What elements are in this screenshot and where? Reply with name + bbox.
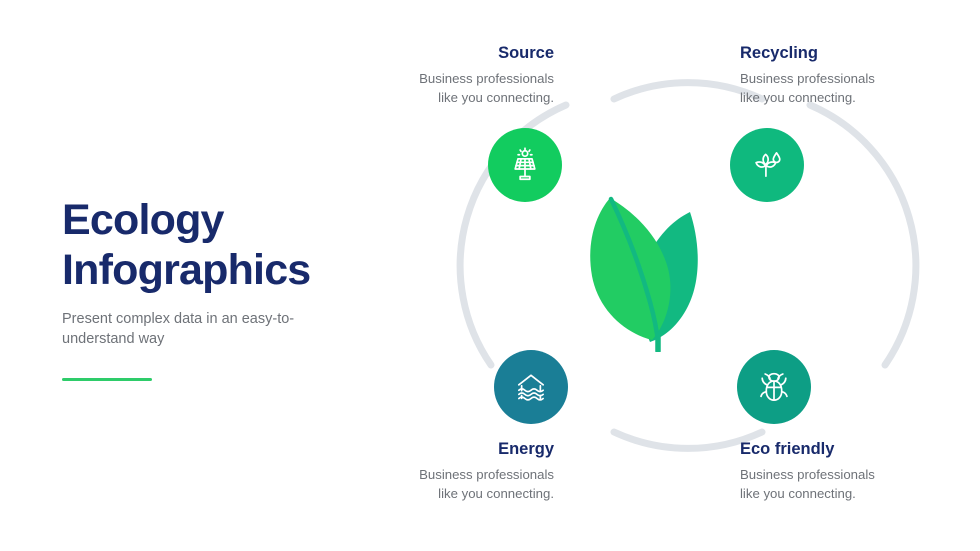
- house-water-icon: [513, 369, 549, 405]
- label-source-description: Business professionals like you connecti…: [354, 70, 554, 107]
- label-source-heading: Source: [354, 44, 554, 64]
- label-eco-friendly: Eco friendly Business professionals like…: [740, 440, 940, 503]
- sprout-water-drop-icon: [749, 147, 785, 183]
- node-source[interactable]: [488, 128, 562, 202]
- page-subtitle: Present complex data in an easy-to-under…: [62, 309, 308, 350]
- beetle-icon: [756, 369, 792, 405]
- label-recycling: Recycling Business professionals like yo…: [740, 44, 940, 107]
- node-energy[interactable]: [494, 350, 568, 424]
- ecology-diagram: Source Business professionals like you c…: [396, 0, 980, 551]
- label-energy: Energy Business professionals like you c…: [354, 440, 554, 503]
- label-eco-friendly-heading: Eco friendly: [740, 440, 940, 460]
- ring-arc-right: [810, 105, 916, 365]
- leaf-icon: [582, 190, 712, 352]
- label-recycling-heading: Recycling: [740, 44, 940, 64]
- label-energy-description: Business professionals like you connecti…: [354, 466, 554, 503]
- label-recycling-description: Business professionals like you connecti…: [740, 70, 940, 107]
- accent-divider: [62, 378, 152, 382]
- leaf-front-shape: [590, 198, 670, 340]
- title-panel: Ecology Infographics Present complex dat…: [62, 196, 372, 381]
- solar-panel-icon: [507, 147, 543, 183]
- node-eco-friendly[interactable]: [737, 350, 811, 424]
- label-source: Source Business professionals like you c…: [354, 44, 554, 107]
- leaf-graphic: [582, 190, 712, 352]
- infographic-slide: Ecology Infographics Present complex dat…: [0, 0, 980, 551]
- label-energy-heading: Energy: [354, 440, 554, 460]
- node-recycling[interactable]: [730, 128, 804, 202]
- page-title: Ecology Infographics: [62, 196, 372, 296]
- label-eco-friendly-description: Business professionals like you connecti…: [740, 466, 940, 503]
